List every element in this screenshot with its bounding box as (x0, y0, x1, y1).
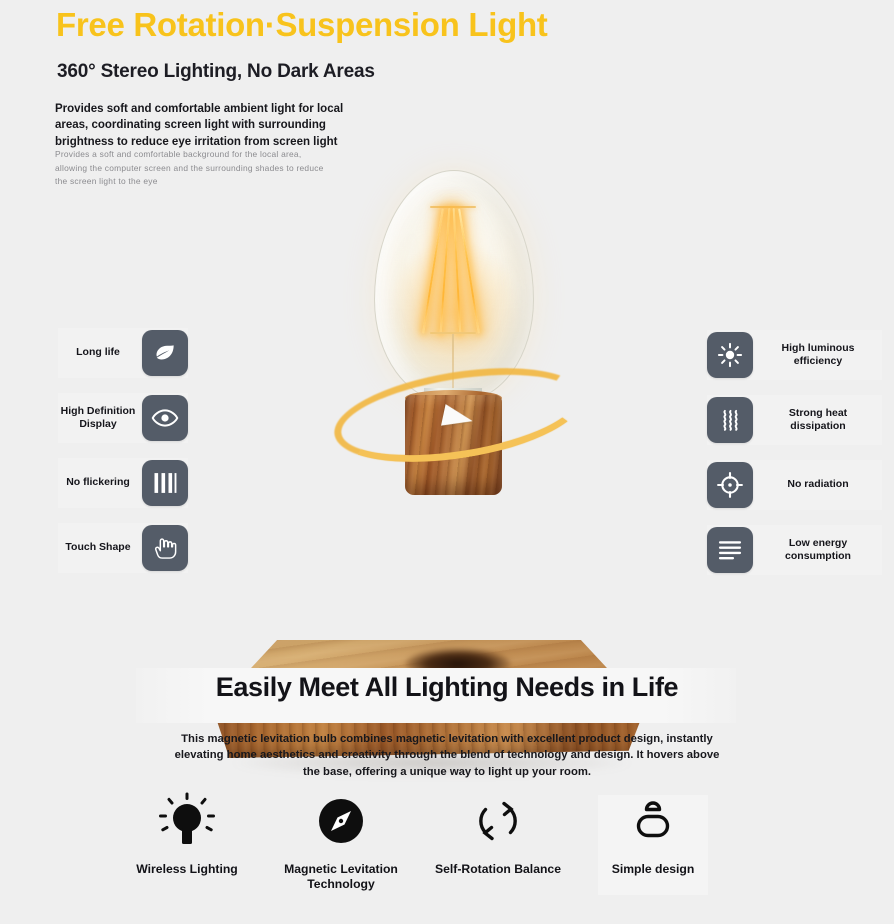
bulb-filament (430, 202, 476, 342)
feature-badge-label: Long life (58, 346, 138, 359)
feature-badge-low-energy-consumption[interactable]: Low energy consumption (707, 525, 882, 575)
feature-badge-long-life[interactable]: Long life (58, 328, 188, 378)
levitation-shape-icon (627, 790, 679, 852)
feature-wireless-lighting[interactable]: Wireless Lighting (107, 790, 267, 877)
page-subtitle: 360° Stereo Lighting, No Dark Areas (57, 61, 375, 83)
sun-icon (707, 332, 753, 378)
feature-label: Magnetic Levitation Technology (261, 862, 421, 891)
bars-icon (142, 460, 188, 506)
banner-description: This magnetic levitation bulb combines m… (167, 731, 727, 780)
header-lead-text: Provides soft and comfortable ambient li… (55, 101, 365, 150)
feature-badge-label: Touch Shape (58, 541, 138, 554)
feature-badge-no-radiation[interactable]: No radiation (707, 460, 882, 510)
hand-icon (142, 525, 188, 571)
feature-label: Simple design (612, 862, 695, 877)
feature-self-rotation-balance[interactable]: Self-Rotation Balance (418, 790, 578, 877)
banner-title: Easily Meet All Lighting Needs in Life (0, 672, 894, 703)
heat-waves-icon (707, 397, 753, 443)
feature-badge-high-luminous-efficiency[interactable]: High luminous efficiency (707, 330, 882, 380)
feature-badge-strong-heat-dissipation[interactable]: Strong heat dissipation (707, 395, 882, 445)
feature-badge-label: Low energy consumption (763, 537, 873, 563)
feature-badge-label: High Definition Display (58, 405, 138, 431)
feature-badge-no-flickering[interactable]: No flickering (58, 458, 188, 508)
crosshair-icon (707, 462, 753, 508)
feature-label: Self-Rotation Balance (435, 862, 561, 877)
feature-badge-label: No flickering (58, 476, 138, 489)
feature-badge-label: Strong heat dissipation (763, 407, 873, 433)
bulb-rays-icon (156, 790, 218, 852)
feature-magnetic-levitation-technology[interactable]: Magnetic Levitation Technology (261, 790, 421, 891)
leaf-icon (142, 330, 188, 376)
filament-strand (440, 208, 451, 334)
rotation-arrows-icon (473, 790, 523, 852)
feature-badge-touch-shape[interactable]: Touch Shape (58, 523, 188, 573)
eye-icon (142, 395, 188, 441)
feature-badge-high-definition-display[interactable]: High Definition Display (58, 393, 188, 443)
feature-simple-design[interactable]: Simple design (573, 790, 733, 877)
page-title: Free Rotation·Suspension Light (56, 6, 548, 44)
feature-label: Wireless Lighting (136, 862, 237, 877)
compass-icon (314, 790, 368, 852)
feature-badge-label: No radiation (763, 478, 873, 491)
lines-icon (707, 527, 753, 573)
feature-badge-label: High luminous efficiency (763, 342, 873, 368)
